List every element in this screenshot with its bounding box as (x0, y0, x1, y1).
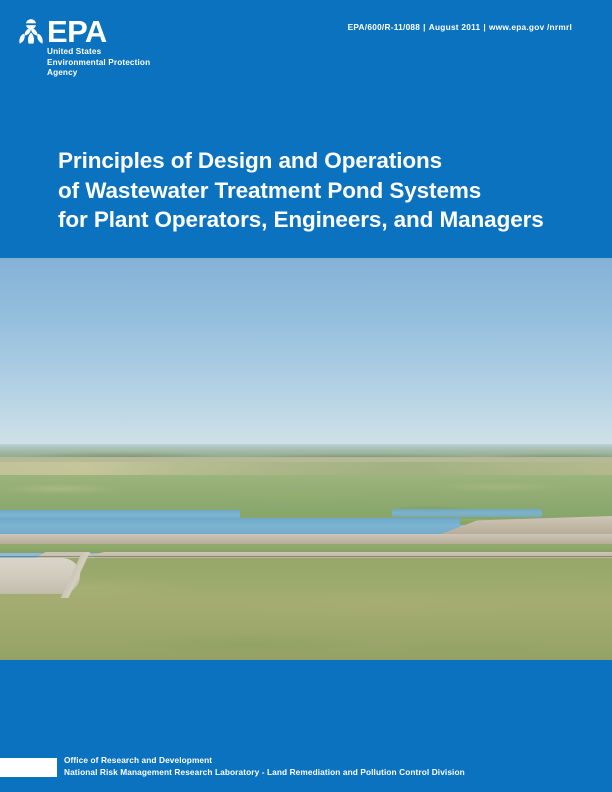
page-title: Principles of Design and Operations of W… (58, 146, 598, 235)
footer-office-info: Office of Research and Development Natio… (64, 755, 465, 778)
document-cover-page: EPA United States Environmental Protecti… (0, 0, 612, 792)
title-line-3: for Plant Operators, Engineers, and Mana… (58, 205, 598, 235)
epa-agency-name: United States Environmental Protection A… (47, 47, 150, 79)
agency-line-3: Agency (47, 68, 150, 79)
footer-line-2: National Risk Management Research Labora… (64, 767, 465, 779)
footer-line-1: Office of Research and Development (64, 755, 465, 767)
meta-separator-1: | (420, 22, 429, 32)
photo-access-road (48, 552, 100, 598)
agency-line-1: United States (47, 47, 150, 58)
meta-separator-2: | (480, 22, 489, 32)
epa-seal-icon (16, 18, 46, 49)
report-number: EPA/600/R-11/088 (348, 22, 421, 32)
cover-photograph (0, 258, 612, 660)
epa-logo: EPA United States Environmental Protecti… (16, 16, 246, 88)
photo-pond-cell-main (0, 516, 612, 546)
agency-url[interactable]: www.epa.gov /nrmrl (489, 22, 572, 32)
publication-date: August 2011 (429, 22, 481, 32)
agency-line-2: Environmental Protection (47, 58, 150, 69)
photo-far-fields-texture (0, 462, 612, 476)
epa-wordmark: EPA (47, 16, 107, 47)
title-line-2: of Wastewater Treatment Pond Systems (58, 176, 598, 206)
footer-accent-bar (0, 758, 57, 777)
photo-sky (0, 258, 612, 454)
title-line-1: Principles of Design and Operations (58, 146, 598, 176)
header-meta-line: EPA/600/R-11/088|August 2011|www.epa.gov… (348, 22, 572, 32)
